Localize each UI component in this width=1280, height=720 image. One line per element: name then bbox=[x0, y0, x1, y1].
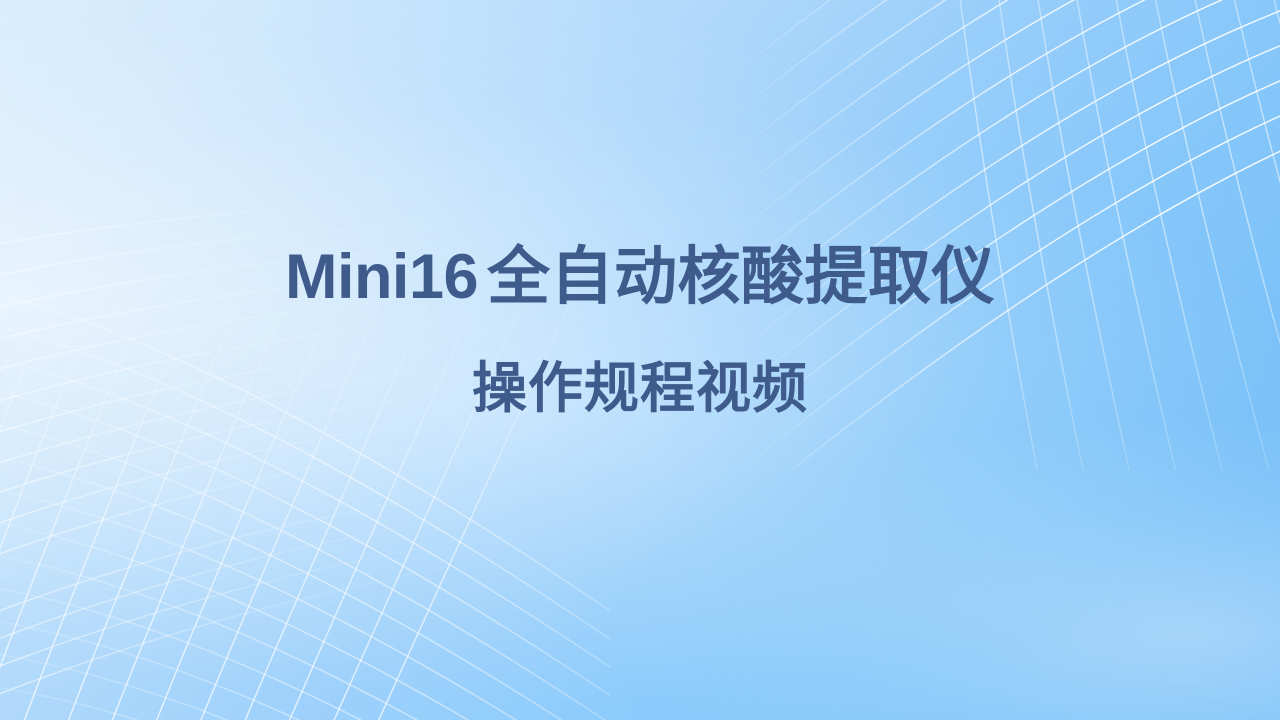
product-model: Mini16 bbox=[285, 242, 478, 312]
page-title: Mini16全自动核酸提取仪 bbox=[0, 246, 1280, 309]
product-name: 全自动核酸提取仪 bbox=[487, 242, 995, 312]
title-text-block: Mini16全自动核酸提取仪 操作规程视频 bbox=[0, 246, 1280, 416]
page-subtitle: 操作规程视频 bbox=[0, 309, 1280, 416]
title-slide: Mini16全自动核酸提取仪 操作规程视频 bbox=[0, 0, 1280, 720]
